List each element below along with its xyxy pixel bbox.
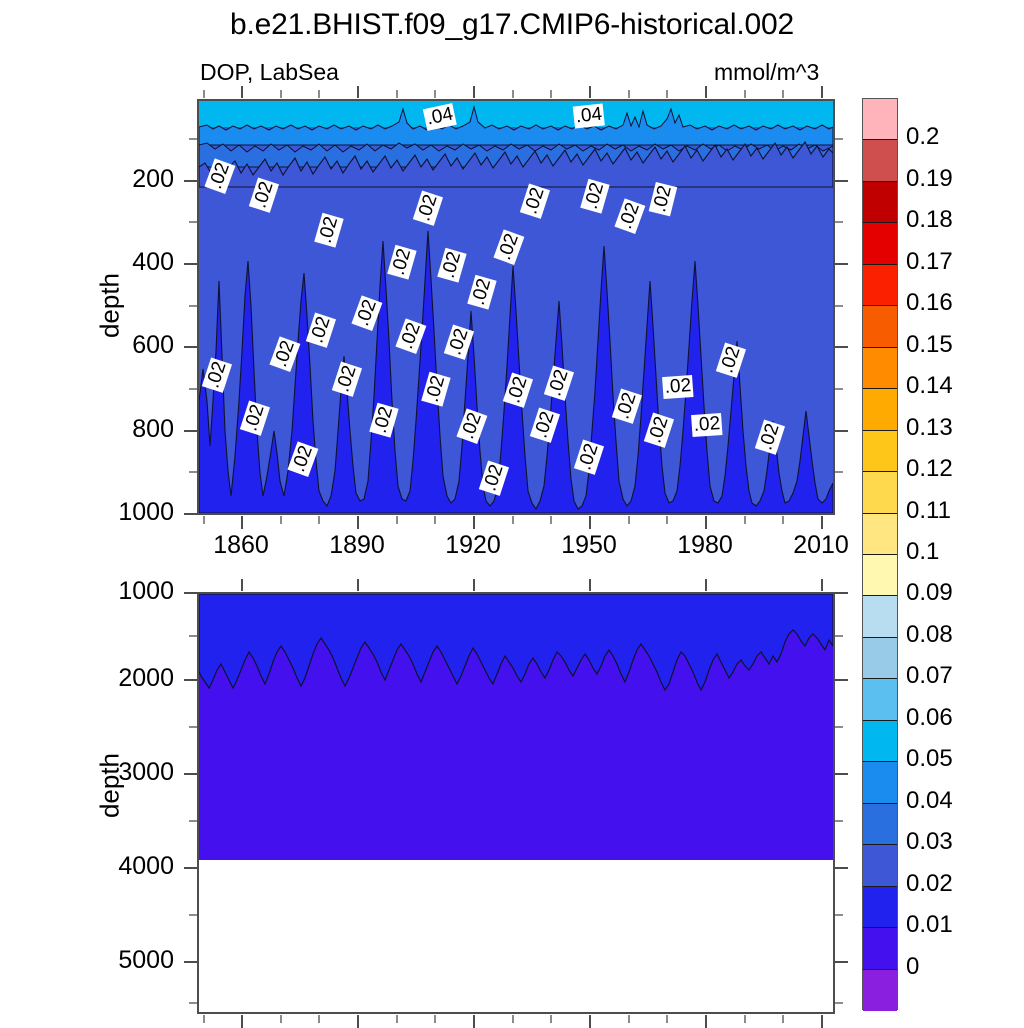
colorbar-swatch [863, 679, 897, 720]
colorbar-swatch [863, 182, 897, 223]
colorbar-swatch [863, 431, 897, 472]
upper-ytick-400: 400 [100, 248, 174, 277]
lower-ytick-4000: 4000 [85, 852, 174, 881]
colorbar-tick-label: 0.01 [906, 911, 1016, 939]
colorbar[interactable] [862, 98, 898, 1010]
colorbar-swatch [863, 348, 897, 389]
colorbar-tick-label: 0.19 [906, 165, 1016, 193]
upper-ytick-1000: 1000 [85, 498, 174, 527]
upper-ytick-600: 600 [100, 331, 174, 360]
upper-xtick-1950: 1950 [539, 531, 639, 560]
colorbar-tick-label: 0 [906, 953, 1016, 981]
colorbar-swatch [863, 223, 897, 264]
plot-units-label: mmol/m^3 [714, 59, 819, 86]
lower-depth-panel [197, 592, 835, 1014]
colorbar-swatch [863, 638, 897, 679]
colorbar-tick-label: 0.04 [906, 787, 1016, 815]
colorbar-tick-label: 0.09 [906, 579, 1016, 607]
colorbar-swatch [863, 514, 897, 555]
colorbar-swatch [863, 472, 897, 513]
colorbar-swatch [863, 970, 897, 1011]
colorbar-tick-label: 0.17 [906, 248, 1016, 276]
colorbar-swatch [863, 389, 897, 430]
colorbar-swatch [863, 99, 897, 140]
lower-ytick-1000: 1000 [85, 577, 174, 606]
upper-ytick-800: 800 [100, 415, 174, 444]
colorbar-swatch [863, 804, 897, 845]
page-title: b.e21.BHIST.f09_g17.CMIP6-historical.002 [0, 8, 1024, 42]
upper-ytick-200: 200 [100, 165, 174, 194]
colorbar-tick-label: 0.05 [906, 745, 1016, 773]
upper-xtick-1890: 1890 [307, 531, 407, 560]
colorbar-tick-label: 0.11 [906, 497, 1016, 525]
lower-ytick-3000: 3000 [85, 758, 174, 787]
colorbar-swatch [863, 140, 897, 181]
colorbar-swatch [863, 721, 897, 762]
lower-ytick-5000: 5000 [85, 946, 174, 975]
colorbar-tick-label: 0.02 [906, 870, 1016, 898]
lower-ytick-2000: 2000 [85, 664, 174, 693]
colorbar-swatch [863, 845, 897, 886]
upper-xtick-1980: 1980 [655, 531, 755, 560]
colorbar-tick-label: 0.08 [906, 621, 1016, 649]
colorbar-tick-label: 0.07 [906, 662, 1016, 690]
plot-subtitle-left: DOP, LabSea [200, 59, 339, 86]
upper-xtick-1860: 1860 [191, 531, 291, 560]
colorbar-tick-label: 0.06 [906, 704, 1016, 732]
colorbar-tick-label: 0.14 [906, 372, 1016, 400]
colorbar-tick-label: 0.16 [906, 289, 1016, 317]
colorbar-swatch [863, 306, 897, 347]
colorbar-tick-label: 0.13 [906, 414, 1016, 442]
colorbar-swatch [863, 555, 897, 596]
colorbar-swatch [863, 928, 897, 969]
colorbar-tick-label: 0.03 [906, 828, 1016, 856]
colorbar-tick-label: 0.2 [906, 123, 1016, 151]
colorbar-tick-label: 0.12 [906, 455, 1016, 483]
colorbar-swatch [863, 887, 897, 928]
upper-xtick-1920: 1920 [423, 531, 523, 560]
colorbar-swatch [863, 762, 897, 803]
upper-contour-plot [199, 101, 833, 513]
colorbar-tick-label: 0.1 [906, 538, 1016, 566]
figure-root: b.e21.BHIST.f09_g17.CMIP6-historical.002… [0, 0, 1024, 1024]
colorbar-swatch [863, 265, 897, 306]
lower-contour-plot [199, 594, 833, 1012]
colorbar-swatch [863, 596, 897, 637]
upper-depth-panel [197, 99, 835, 515]
upper-xtick-2010: 2010 [771, 531, 871, 560]
colorbar-tick-label: 0.15 [906, 331, 1016, 359]
colorbar-tick-label: 0.18 [906, 206, 1016, 234]
